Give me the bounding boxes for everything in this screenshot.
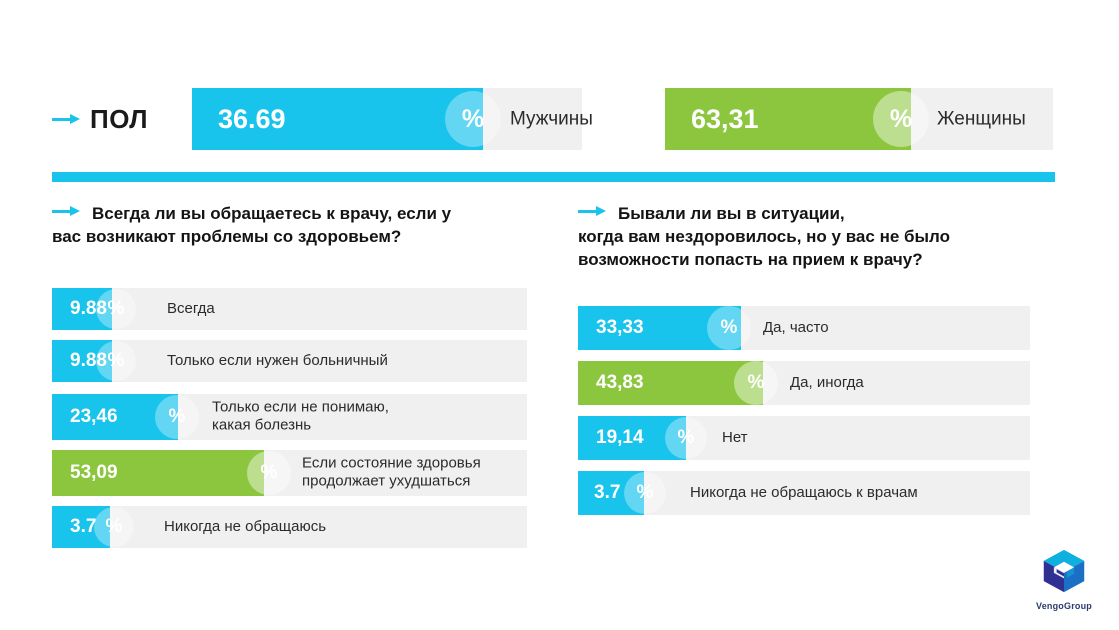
percent-badge: % [665, 417, 707, 459]
answer-row: 9.88 % Только если нужен больничный [52, 340, 527, 382]
answer-row: 19,14 % Нет [578, 416, 1030, 460]
gender-caption-male: Мужчины [510, 107, 593, 130]
gender-value-male: 36.69 [218, 104, 286, 135]
answer-row: 9.88 % Всегда [52, 288, 527, 330]
question-left-text: Всегда ли вы обращаетесь к врачу, если у… [52, 204, 451, 246]
gender-caption-female: Женщины [937, 107, 1026, 130]
gender-bar-track-male: 36.69 % Мужчины [192, 88, 582, 150]
answer-row: 33,33 % Да, часто [578, 306, 1030, 350]
answer-row: 43,83 % Да, иногда [578, 361, 1030, 405]
gender-bar-fill-male: 36.69 [192, 88, 483, 150]
infographic-slide: ПОЛ 36.69 % Мужчины 63,31 % Женщины Всег… [0, 0, 1119, 630]
percent-badge: % [624, 472, 666, 514]
percent-badge: % [96, 289, 136, 329]
question-left: Всегда ли вы обращаетесь к врачу, если у… [52, 203, 552, 249]
answer-row: 3.7 % Никогда не обращаюсь к врачам [578, 471, 1030, 515]
section-divider [52, 172, 1055, 182]
gender-label-group: ПОЛ [52, 88, 148, 150]
gender-label: ПОЛ [90, 104, 148, 135]
answer-caption: Только если нужен больничный [167, 352, 388, 370]
percent-badge: % [247, 451, 291, 495]
answer-caption: Если состояние здоровья продолжает ухудш… [302, 455, 481, 492]
answer-value: 23,46 [70, 406, 118, 428]
gender-value-female: 63,31 [691, 104, 759, 135]
answer-row: 23,46 % Только если не понимаю, какая бо… [52, 394, 527, 440]
answer-caption: Никогда не обращаюсь к врачам [690, 484, 918, 502]
answer-caption: Только если не понимаю, какая болезнь [212, 399, 389, 436]
answer-value: 43,83 [596, 372, 644, 394]
answer-value: 33,33 [596, 317, 644, 339]
arrow-right-icon [578, 205, 608, 217]
percent-badge-male: % [445, 91, 501, 147]
logo-name: VengoGroup [1028, 601, 1100, 611]
percent-badge: % [155, 395, 199, 439]
percent-badge: % [94, 507, 134, 547]
answer-bar-fill: 53,09 [52, 450, 264, 496]
question-right-text: Бывали ли вы в ситуации, когда вам нездо… [578, 204, 950, 269]
answer-value: 19,14 [596, 427, 644, 449]
percent-badge-female: % [873, 91, 929, 147]
percent-badge: % [707, 306, 751, 350]
answer-value: 3.7 [594, 482, 620, 504]
answer-value: 3.7 [70, 516, 96, 538]
logo: VengoGroup [1028, 548, 1100, 610]
answer-caption: Всегда [167, 300, 215, 318]
answer-caption: Нет [722, 429, 748, 447]
answer-value: 53,09 [70, 462, 118, 484]
answer-row: 3.7 % Никогда не обращаюсь [52, 506, 527, 548]
arrow-right-icon [52, 205, 82, 217]
question-right: Бывали ли вы в ситуации, когда вам нездо… [578, 203, 1048, 272]
arrow-right-icon [52, 113, 82, 125]
gender-section: ПОЛ 36.69 % Мужчины 63,31 % Женщины [0, 88, 1119, 150]
cube-logo-icon [1040, 548, 1088, 594]
percent-badge: % [96, 341, 136, 381]
answer-row: 53,09 % Если состояние здоровья продолжа… [52, 450, 527, 496]
answer-caption: Да, иногда [790, 374, 864, 392]
gender-bar-track-female: 63,31 % Женщины [665, 88, 1053, 150]
answer-caption: Никогда не обращаюсь [164, 518, 326, 536]
answer-caption: Да, часто [763, 319, 829, 337]
percent-badge: % [734, 361, 778, 405]
